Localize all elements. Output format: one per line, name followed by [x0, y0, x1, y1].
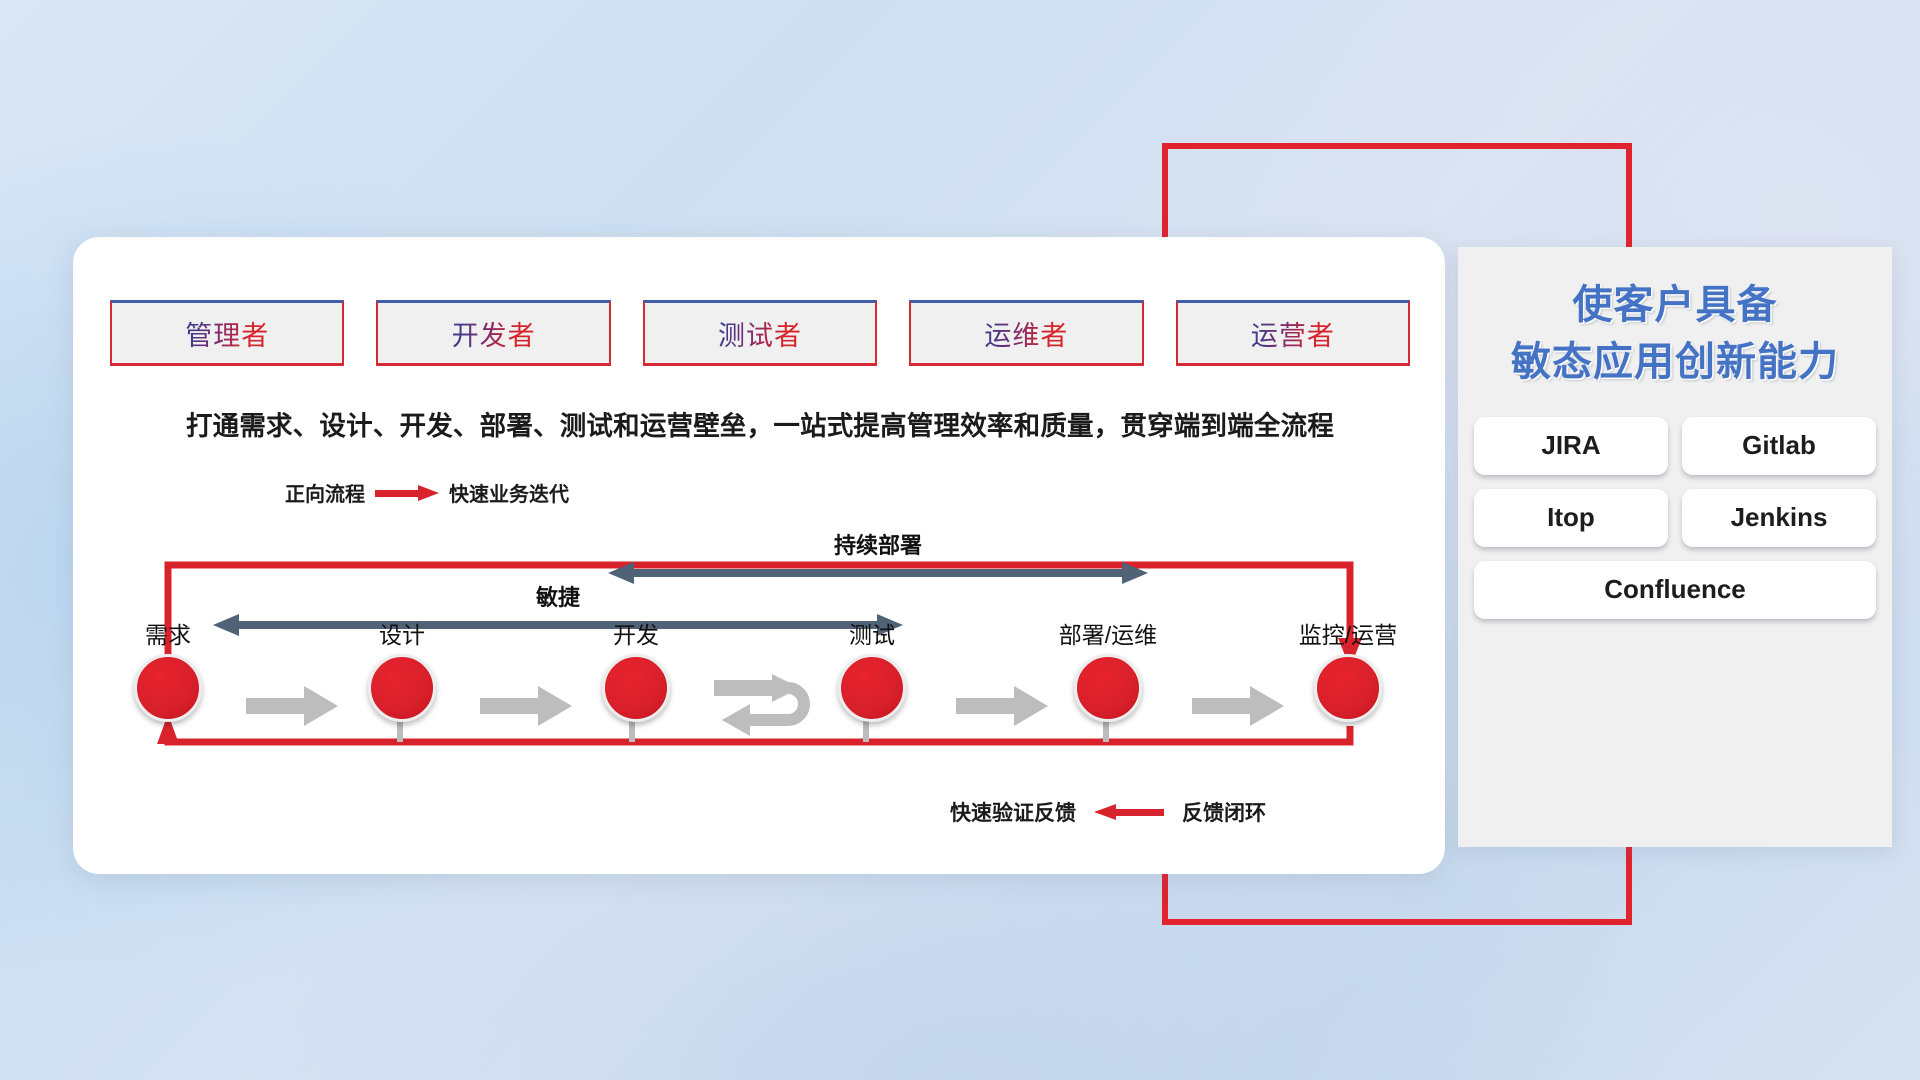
tool-chip-itop[interactable]: Itop — [1474, 489, 1668, 547]
stage-dot — [1314, 654, 1382, 722]
tool-chip-jenkins[interactable]: Jenkins — [1682, 489, 1876, 547]
tool-chip-confluence[interactable]: Confluence — [1474, 561, 1876, 619]
span-label: 敏捷 — [213, 580, 903, 612]
stage-label: 设计 — [332, 616, 472, 650]
headline-text: 打通需求、设计、开发、部署、测试和运营壁垒，一站式提高管理效率和质量，贯穿端到端… — [0, 404, 1520, 443]
role-box-tester[interactable]: 测试者 — [643, 300, 877, 366]
stage-dot — [1074, 654, 1142, 722]
tool-chip-gitlab[interactable]: Gitlab — [1682, 417, 1876, 475]
pipeline-stage-requirements[interactable]: 需求 — [98, 616, 238, 722]
forward-flow-source-label: 正向流程 — [285, 478, 365, 507]
tool-chip-jira[interactable]: JIRA — [1474, 417, 1668, 475]
tool-chip-grid: JIRA Gitlab Itop Jenkins Confluence — [1474, 417, 1876, 619]
role-box-operations-engineer[interactable]: 运维者 — [909, 300, 1143, 366]
stage-dot — [838, 654, 906, 722]
gray-arrow-right-icon-2 — [480, 684, 572, 728]
pipeline-stage-development[interactable]: 开发 — [566, 616, 706, 722]
gray-arrow-right-icon-4 — [1192, 684, 1284, 728]
stage-label: 开发 — [566, 616, 706, 650]
red-arrow-right-icon — [375, 485, 439, 501]
stage-dot — [134, 654, 202, 722]
role-box-business-operator[interactable]: 运营者 — [1176, 300, 1410, 366]
delivery-pipeline: 需求 设计 开发 — [110, 616, 1420, 736]
outcome-title-line1: 使客户具备 — [1458, 277, 1892, 334]
role-label: 管理者 — [185, 314, 269, 353]
span-label: 持续部署 — [608, 528, 1148, 560]
gray-arrow-right-icon-1 — [246, 684, 338, 728]
pipeline-stage-design[interactable]: 设计 — [332, 616, 472, 722]
stage-label: 部署/运维 — [1038, 616, 1178, 650]
role-label: 运维者 — [984, 314, 1068, 353]
forward-flow-caption: 正向流程 快速业务迭代 — [285, 478, 569, 507]
red-arrow-left-icon — [1094, 804, 1164, 820]
gray-arrow-right-icon-3 — [956, 684, 1048, 728]
role-label: 运营者 — [1251, 314, 1335, 353]
role-box-row: 管理者 开发者 测试者 运维者 运营者 — [110, 300, 1410, 366]
outcome-panel-title: 使客户具备 敏态应用创新能力 — [1458, 277, 1892, 391]
role-box-manager[interactable]: 管理者 — [110, 300, 344, 366]
feedback-result-label: 快速验证反馈 — [950, 797, 1076, 827]
role-label: 测试者 — [718, 314, 802, 353]
role-label: 开发者 — [452, 314, 536, 353]
outcome-panel: 使客户具备 敏态应用创新能力 JIRA Gitlab Itop Jenkins … — [1458, 247, 1892, 847]
pipeline-stage-monitor-operate[interactable]: 监控/运营 — [1278, 616, 1418, 722]
feedback-source-label: 反馈闭环 — [1182, 797, 1266, 827]
stage-label: 需求 — [98, 616, 238, 650]
stage-dot — [368, 654, 436, 722]
stage-dot — [602, 654, 670, 722]
pipeline-stage-testing[interactable]: 测试 — [802, 616, 942, 722]
role-box-developer[interactable]: 开发者 — [376, 300, 610, 366]
stage-label: 监控/运营 — [1278, 616, 1418, 650]
forward-flow-target-label: 快速业务迭代 — [449, 478, 569, 507]
outcome-title-line2: 敏态应用创新能力 — [1458, 334, 1892, 391]
feedback-loop-caption: 快速验证反馈 反馈闭环 — [950, 797, 1266, 827]
stage-label: 测试 — [802, 616, 942, 650]
pipeline-stage-deploy-ops[interactable]: 部署/运维 — [1038, 616, 1178, 722]
slide-canvas: 管理者 开发者 测试者 运维者 运营者 打通需求、设计、开发、部署、测试和运营壁… — [0, 0, 1920, 1080]
